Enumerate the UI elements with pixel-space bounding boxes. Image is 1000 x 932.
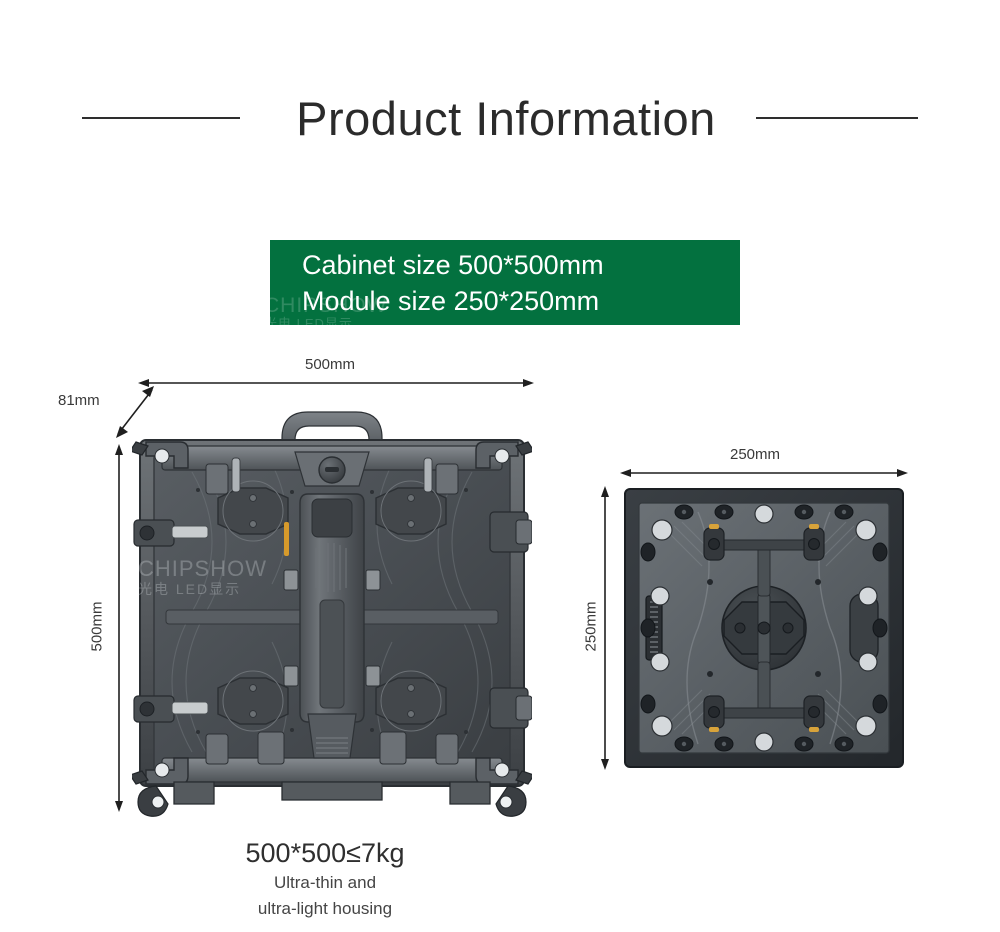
cabinet-depth-arrow (110, 382, 160, 442)
led-module-rear-view (622, 486, 906, 770)
banner-module-size: Module size 250*250mm (302, 283, 740, 319)
spec-banner: CHIPSHOW 光电 LED显示 Cabinet size 500*500mm… (270, 240, 740, 325)
led-cabinet-rear-view (132, 402, 532, 820)
product-information-page: Product Information CHIPSHOW 光电 LED显示 Ca… (0, 0, 1000, 932)
cabinet-width-label: 500mm (305, 356, 355, 373)
caption-weight: 500*500≤7kg (120, 836, 530, 870)
module-height-arrow (598, 486, 612, 770)
caption-sub-line-1: Ultra-thin and (120, 870, 530, 896)
cabinet-height-label: 500mm (89, 599, 106, 655)
cabinet-depth-label: 81mm (58, 392, 100, 409)
page-title: Product Information (296, 95, 716, 142)
module-width-label: 250mm (730, 446, 780, 463)
cabinet-height-arrow (112, 444, 126, 812)
page-title-row: Product Information (0, 82, 1000, 154)
cabinet-caption: 500*500≤7kg Ultra-thin and ultra-light h… (120, 836, 530, 922)
banner-cabinet-size: Cabinet size 500*500mm (302, 247, 740, 283)
caption-sub-line-2: ultra-light housing (120, 896, 530, 922)
title-rule-left (82, 117, 240, 119)
cabinet-width-arrow (138, 376, 534, 390)
module-width-arrow (620, 466, 908, 480)
title-rule-right (756, 117, 918, 119)
module-height-label: 250mm (583, 599, 600, 655)
